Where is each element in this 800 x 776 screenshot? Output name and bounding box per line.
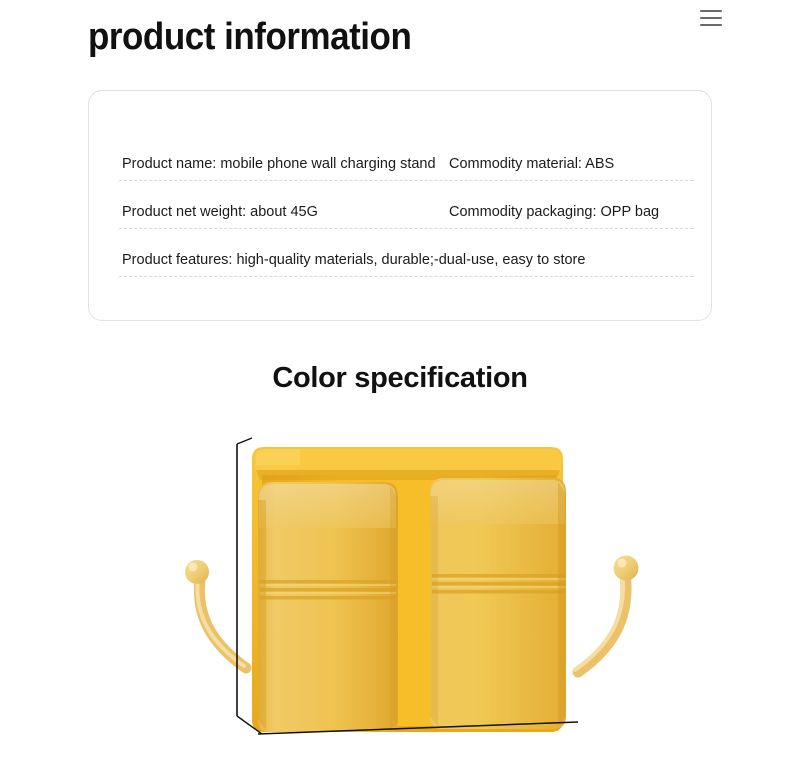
page-title: product information [88, 16, 411, 59]
color-specification-heading: Color specification [0, 362, 800, 395]
left-pocket [258, 482, 398, 732]
info-cell-product-features: Product features: high-quality materials… [122, 245, 585, 275]
info-row-product-name: Product name: mobile phone wall charging… [119, 149, 693, 195]
hamburger-menu-icon[interactable] [700, 6, 726, 30]
right-hook-icon [575, 556, 639, 673]
product-figure: 9.5CM 3CM 10CM [0, 420, 800, 776]
product-information-page: product information Product name: mobile… [0, 0, 800, 776]
charging-stand-body [252, 447, 566, 732]
hamburger-line-1 [700, 10, 722, 12]
row-divider [119, 276, 693, 277]
row-divider [119, 180, 693, 181]
info-row-net-weight: Product net weight: about 45G Commodity … [119, 197, 693, 243]
right-pocket [430, 478, 566, 729]
info-row-product-features: Product features: high-quality materials… [119, 245, 693, 291]
hamburger-line-3 [700, 24, 722, 26]
hamburger-line-2 [700, 17, 722, 19]
info-cell-commodity-material: Commodity material: ABS [449, 149, 614, 179]
row-divider [119, 228, 693, 229]
info-cell-net-weight: Product net weight: about 45G [122, 197, 318, 227]
info-cell-commodity-packaging: Commodity packaging: OPP bag [449, 197, 659, 227]
info-cell-product-name: Product name: mobile phone wall charging… [122, 149, 436, 179]
product-illustration [0, 420, 800, 776]
product-info-card: Product name: mobile phone wall charging… [88, 90, 712, 321]
